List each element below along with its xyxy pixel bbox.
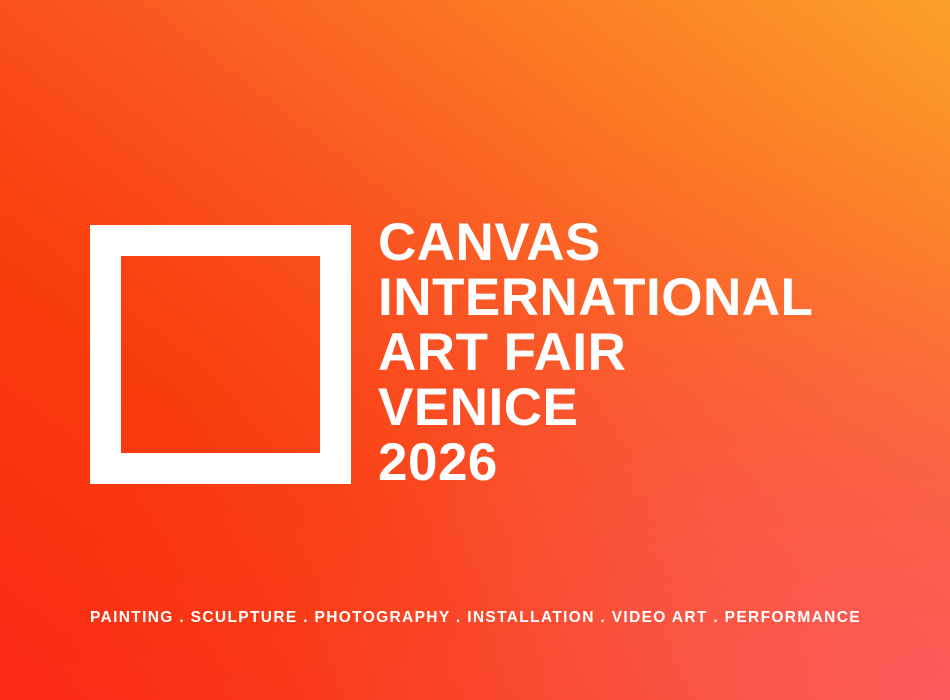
square-frame-logo-icon: [90, 225, 351, 484]
poster-canvas: CANVAS INTERNATIONAL ART FAIR VENICE 202…: [0, 0, 950, 700]
discipline-tagline: PAINTING . SCULPTURE . PHOTOGRAPHY . INS…: [90, 608, 861, 628]
headline-line-2: INTERNATIONAL: [378, 270, 918, 325]
page-title: CANVAS INTERNATIONAL ART FAIR VENICE 202…: [378, 215, 918, 490]
headline-line-5: 2026: [378, 435, 918, 490]
headline-line-1: CANVAS: [378, 215, 918, 270]
headline-line-3: ART FAIR: [378, 325, 918, 380]
headline-line-4: VENICE: [378, 380, 918, 435]
